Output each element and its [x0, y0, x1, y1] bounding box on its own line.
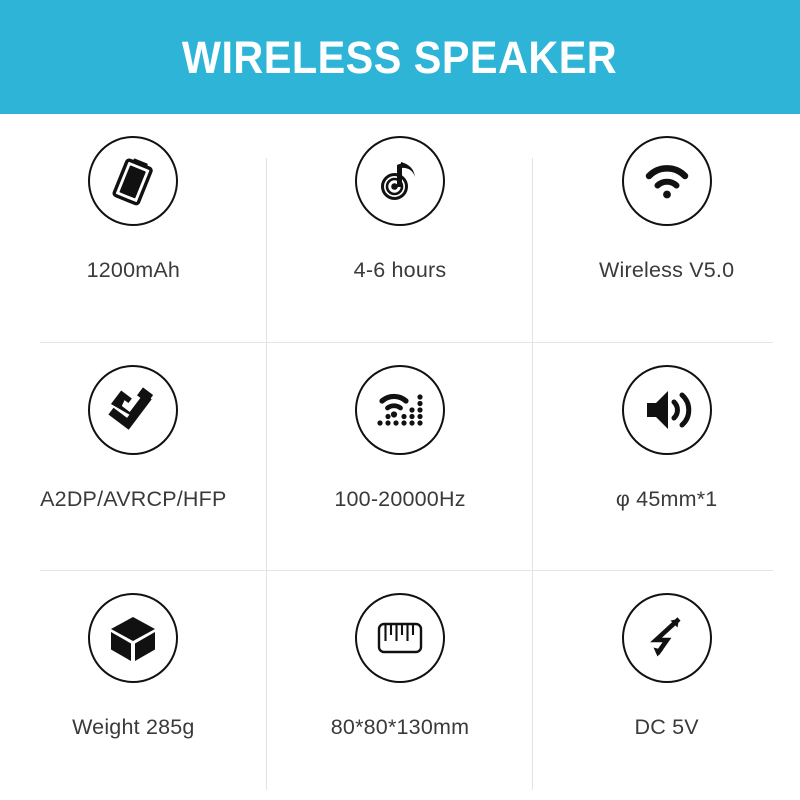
double-check-icon	[88, 365, 178, 455]
page-title: WIRELESS SPEAKER	[182, 35, 617, 80]
spec-label: Wireless V5.0	[599, 258, 734, 283]
product-spec-sheet: WIRELESS SPEAKER 1200mAh	[0, 0, 800, 800]
spec-cell-power: DC 5V	[533, 571, 800, 800]
lightning-bolt-icon	[622, 593, 712, 683]
spec-label: DC 5V	[634, 715, 698, 740]
spec-cell-playtime: 4-6 hours	[267, 114, 534, 343]
music-note-icon	[355, 136, 445, 226]
wifi-signal-icon	[622, 136, 712, 226]
spec-label: Weight 285g	[72, 715, 195, 740]
spec-cell-battery: 1200mAh	[0, 114, 267, 343]
spec-cell-profiles: A2DP/AVRCP/HFP	[0, 343, 267, 572]
spec-cell-weight: Weight 285g	[0, 571, 267, 800]
page-header: WIRELESS SPEAKER	[0, 0, 800, 114]
spec-cell-frequency: 100-20000Hz	[267, 343, 534, 572]
spec-label: 100-20000Hz	[334, 487, 465, 512]
spec-label: φ 45mm*1	[616, 487, 718, 512]
spec-cell-wireless: Wireless V5.0	[533, 114, 800, 343]
spec-label: A2DP/AVRCP/HFP	[40, 487, 226, 512]
cube-box-icon	[88, 593, 178, 683]
spec-cell-driver: φ 45mm*1	[533, 343, 800, 572]
ruler-icon	[355, 593, 445, 683]
spec-label: 1200mAh	[87, 258, 180, 283]
equalizer-signal-icon	[355, 365, 445, 455]
battery-icon	[88, 136, 178, 226]
speaker-volume-icon	[622, 365, 712, 455]
spec-grid: 1200mAh 4-6 hours	[0, 114, 800, 800]
spec-label: 80*80*130mm	[331, 715, 469, 740]
spec-cell-dimensions: 80*80*130mm	[267, 571, 534, 800]
spec-label: 4-6 hours	[354, 258, 447, 283]
